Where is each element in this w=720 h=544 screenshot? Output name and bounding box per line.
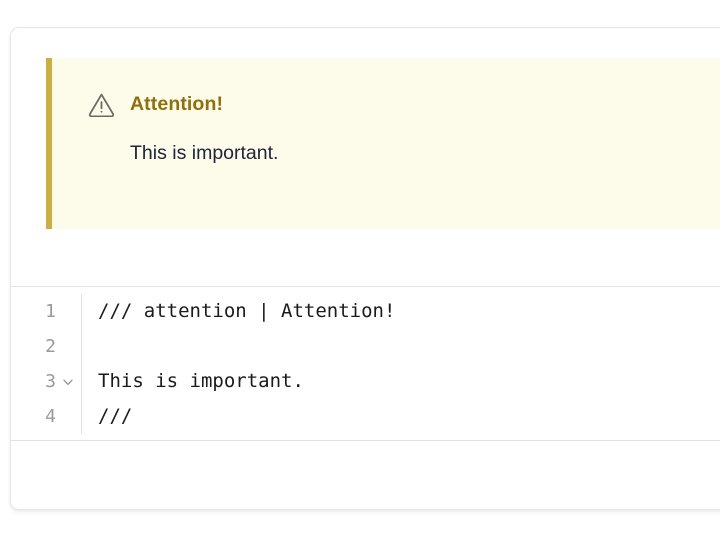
gutter-row[interactable]: 3 [11,364,81,399]
callout-body-text: This is important. [52,117,720,166]
warning-triangle-icon [88,92,115,117]
code-content[interactable]: /// attention | Attention! This is impor… [82,294,720,434]
attention-callout: Attention! This is important. [46,58,720,229]
code-line[interactable]: /// attention | Attention! [98,294,720,329]
line-number: 1 [45,294,56,329]
code-line[interactable]: /// [98,399,720,434]
gutter-row[interactable]: 2 [11,329,81,364]
callout-title: Attention! [130,95,223,115]
callout-title-row: Attention! [52,58,720,117]
gutter-row[interactable]: 1 [11,294,81,329]
editor-footer [11,441,720,487]
preview-card: Attention! This is important. 1 2 3 [10,27,720,510]
code-line[interactable]: This is important. [98,364,720,399]
rendered-preview-pane: Attention! This is important. [11,28,720,287]
fold-placeholder [61,340,75,354]
chevron-down-icon[interactable] [61,375,75,389]
line-number-gutter[interactable]: 1 2 3 4 [11,294,82,434]
line-number: 2 [45,329,56,364]
code-editor-pane[interactable]: 1 2 3 4 [11,287,720,441]
fold-placeholder [61,410,75,424]
code-area[interactable]: 1 2 3 4 [11,294,720,440]
line-number: 4 [45,399,56,434]
fold-placeholder [61,305,75,319]
line-number: 3 [45,364,56,399]
code-line[interactable] [98,329,720,364]
gutter-row[interactable]: 4 [11,399,81,434]
